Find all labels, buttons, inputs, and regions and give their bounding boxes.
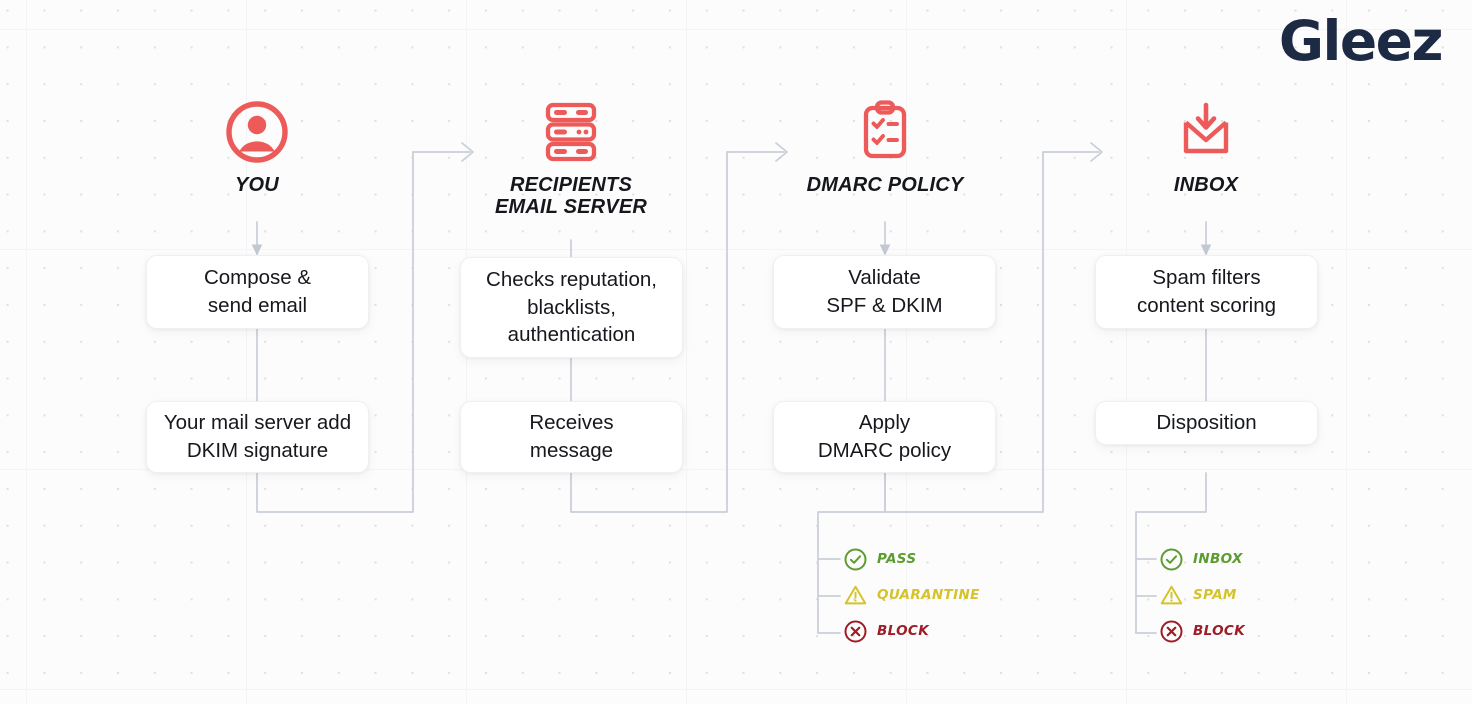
column-title: RECIPIENTS EMAIL SERVER [471,174,671,219]
column-head-recipients-email-server: RECIPIENTS EMAIL SERVER [471,96,671,219]
outcome-spam: SPAM [1159,580,1245,610]
column-title: YOU [157,174,357,196]
card-apply-dmarc-policy[interactable]: Apply DMARC policy [773,401,996,473]
brand-logo: Gleez [1279,14,1442,69]
column-head-dmarc-policy: DMARC POLICY [785,96,985,196]
check-circle-icon [1159,547,1184,572]
outcome-inbox: INBOX [1159,544,1245,574]
server-rack-icon [471,96,671,168]
card-receives-message[interactable]: Receives message [460,401,683,473]
warning-triangle-icon [843,583,868,608]
inbox-envelope-icon [1106,96,1306,168]
clipboard-check-icon [785,96,985,168]
check-circle-icon [843,547,868,572]
column-head-you: YOU [157,96,357,196]
card-disposition[interactable]: Disposition [1095,401,1318,445]
column-head-inbox: INBOX [1106,96,1306,196]
outcome-label: SPAM [1193,587,1237,603]
dmarc-outcomes: PASS QUARANTINE BLOCK [843,544,980,652]
outcome-label: QUARANTINE [877,587,980,603]
card-dkim-signature[interactable]: Your mail server add DKIM signature [146,401,369,473]
column-title: INBOX [1106,174,1306,196]
outcome-label: PASS [877,551,916,567]
inbox-outcomes: INBOX SPAM BLOCK [1159,544,1245,652]
outcome-pass: PASS [843,544,980,574]
card-spam-filters[interactable]: Spam filters content scoring [1095,255,1318,329]
outcome-block: BLOCK [1159,616,1245,646]
x-circle-icon [843,619,868,644]
column-title: DMARC POLICY [785,174,985,196]
warning-triangle-icon [1159,583,1184,608]
card-validate-spf-dkim[interactable]: Validate SPF & DKIM [773,255,996,329]
card-checks-reputation[interactable]: Checks reputation, blacklists, authentic… [460,257,683,358]
outcome-label: BLOCK [1193,623,1245,639]
x-circle-icon [1159,619,1184,644]
outcome-label: BLOCK [877,623,929,639]
outcome-quarantine: QUARANTINE [843,580,980,610]
diagram-canvas: Gleez YOU Compose & send email Your mail… [0,0,1472,704]
outcome-label: INBOX [1193,551,1243,567]
user-circle-icon [157,96,357,168]
outcome-block: BLOCK [843,616,980,646]
card-compose[interactable]: Compose & send email [146,255,369,329]
